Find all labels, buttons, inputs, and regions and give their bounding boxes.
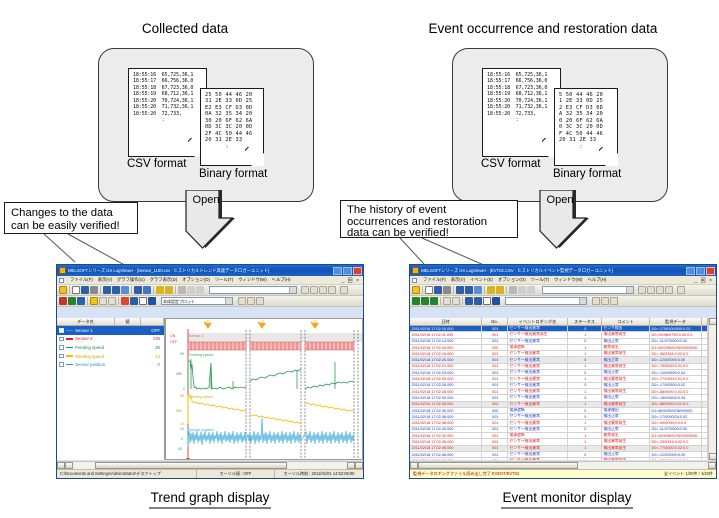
cell-status: 1 xyxy=(568,458,602,460)
cell-comment: 検出異常発生 xyxy=(602,402,650,407)
cell-event: センサー検出異常 xyxy=(508,414,568,419)
cell-data: D0=-12/0/0000:0.00 xyxy=(650,452,702,457)
calendar-icon[interactable] xyxy=(483,297,491,305)
cell-no: 001 xyxy=(482,452,508,457)
menu-item-window[interactable]: ウィンドウ(W) xyxy=(238,277,266,283)
series-name: Sensor position xyxy=(75,362,134,367)
scroll-left-button[interactable] xyxy=(57,462,65,469)
cell-data: D0=-76/0000:0.01:0.0 xyxy=(650,364,702,369)
maximize-button[interactable] xyxy=(696,267,705,275)
nav-next-icon[interactable] xyxy=(319,286,327,294)
cell-status: 1 xyxy=(568,439,602,444)
cut-icon[interactable] xyxy=(509,286,517,294)
person-icon[interactable] xyxy=(474,286,482,294)
cell-event: 電源遮断 xyxy=(508,408,568,413)
event-table-header[interactable]: 日時 No. イベントロギング名 ステータス コメント 監視データ xyxy=(410,318,708,326)
palette-icon[interactable] xyxy=(148,297,156,305)
event-menubar[interactable]: ファイル(F) 表示(V) イベント(E) オプション(O) ツール(T) ウィ… xyxy=(410,276,716,285)
print-icon[interactable] xyxy=(443,286,451,294)
svg-text:99: 99 xyxy=(180,352,184,356)
menu-item-window[interactable]: ウィンドウ(W) xyxy=(554,277,582,283)
cell-date: 2011/02/18 17:02:40.000 xyxy=(410,427,482,432)
svg-text:0: 0 xyxy=(181,437,183,441)
cell-status: 0 xyxy=(568,408,602,413)
event-table-body[interactable]: 2011/02/18 17:02:10.000001センサー検出異常0センサ検出… xyxy=(410,326,708,460)
scroll-thumb[interactable] xyxy=(418,462,578,469)
cell-no: 001 xyxy=(482,420,508,425)
cell-no: 001 xyxy=(482,389,508,394)
plot-green2-icon[interactable] xyxy=(421,297,429,305)
menu-item-graph-ops[interactable]: グラフ操作(G) xyxy=(117,277,145,283)
toolbar-separator xyxy=(462,297,463,305)
event-monitor-caption: Event monitor display xyxy=(482,490,652,505)
open-folder-icon[interactable] xyxy=(59,286,67,294)
cut-icon[interactable] xyxy=(178,286,186,294)
cell-data: D0=-17/0/0500:0.02 xyxy=(650,383,702,388)
right-open-arrow: Open xyxy=(536,190,596,252)
cell-status: 1 xyxy=(568,433,602,438)
left-binary-text: 25 50 44 46 20 31 2E 33 0D 25 E2 E3 CF D… xyxy=(205,92,260,150)
cell-data: D1=60/0/55/0/08/0/0000 xyxy=(650,408,702,413)
marker-icon[interactable] xyxy=(99,297,107,305)
nav-prev-icon[interactable] xyxy=(310,286,318,294)
toolbar-separator xyxy=(131,286,132,294)
series-color-swatch xyxy=(66,364,73,366)
person-icon[interactable] xyxy=(121,286,129,294)
event-statusbar: 監視データロギングファイル読み出し完了 EVENT/EVT02 全イベント 1/… xyxy=(410,469,716,478)
visibility-checkbox[interactable] xyxy=(59,354,64,359)
cell-no: 001 xyxy=(482,357,508,362)
nav-last-icon[interactable] xyxy=(665,286,673,294)
trend-statusbar: C:\Documents and Settings\Administrator\… xyxy=(57,469,363,478)
svg-text:▲02: ▲02 xyxy=(257,320,264,324)
col-header-monitor-data[interactable]: 監視データ xyxy=(650,318,702,325)
left-callout: Changes to the data can be easily verifi… xyxy=(4,202,138,234)
list-item[interactable]: Sensor 2 ON xyxy=(57,335,164,344)
save-icon[interactable] xyxy=(434,286,442,294)
cell-date: 2011/02/18 17:02:35.000 xyxy=(410,408,482,413)
nav-first-icon[interactable] xyxy=(301,286,309,294)
cell-data: D0=-18/0/0600:0.04 xyxy=(650,395,702,400)
right-csv-sheet: 18:55:16 65,725,36,1 18:55:17 66,756,36,… xyxy=(482,68,561,157)
status-message: 監視データロギングファイル読み出し完了 EVENT/EVT02 xyxy=(410,470,661,478)
cell-comment: 検出正常 xyxy=(602,452,650,457)
cursor-icon[interactable] xyxy=(90,297,98,305)
cell-date: 2011/02/18 17:02:26.000 xyxy=(410,383,482,388)
cell-event: センサー検出異常 xyxy=(508,452,568,457)
cell-comment: 検出異常発生 xyxy=(602,376,650,381)
cell-date: 2011/02/18 17:02:16.000 xyxy=(410,345,482,350)
cell-comment: 検出異常発生 xyxy=(602,458,650,460)
menu-item-help[interactable]: ヘルプ(H) xyxy=(272,277,291,283)
cell-data: D0=-88/0000:0.01:0.0 xyxy=(650,402,702,407)
menu-item-tools[interactable]: ツール(T) xyxy=(531,277,549,283)
svg-text:Sensor position: Sensor position xyxy=(189,428,214,432)
menu-item-view[interactable]: 表示(V) xyxy=(98,277,112,283)
nav-last-icon[interactable] xyxy=(328,286,336,294)
menu-item-options[interactable]: オプション(O) xyxy=(498,277,526,283)
mdi-window-controls[interactable]: _ 回 × xyxy=(342,277,360,284)
scroll-right-button[interactable] xyxy=(708,462,716,469)
cell-no: 001 xyxy=(482,427,508,432)
text-tool-icon[interactable] xyxy=(592,297,600,305)
col-header-status[interactable]: ステータス xyxy=(568,318,602,325)
svg-text:ON: ON xyxy=(170,334,176,338)
menu-item-event[interactable]: イベント(E) xyxy=(470,277,493,283)
event-toolbar-row1[interactable] xyxy=(410,285,716,296)
trend-toolbar-row2[interactable]: 本体設定プロット xyxy=(57,296,363,307)
visibility-checkbox[interactable] xyxy=(59,328,64,333)
scroll-down-button[interactable] xyxy=(709,453,717,460)
series-name: Sensor 1 xyxy=(75,328,134,333)
scroll-left-page-button[interactable] xyxy=(65,462,73,469)
series-name: Winding speed xyxy=(75,354,134,359)
menu-item-tools[interactable]: ツール(T) xyxy=(215,277,233,283)
plot-blue-icon[interactable] xyxy=(77,297,85,305)
cell-date: 2011/02/18 17:02:14.000 xyxy=(410,339,482,344)
cell-date: 2011/02/18 17:02:48.000 xyxy=(410,452,482,457)
cell-no: 001 xyxy=(482,339,508,344)
export-icon[interactable] xyxy=(610,297,618,305)
list-item[interactable]: Winding speed 13 xyxy=(57,352,164,361)
right-binary-sheet: 5 50 44 46 20 1 2E 33 0D 25 2 E3 CF D3 0… xyxy=(554,88,618,166)
right-open-label: Open xyxy=(530,194,590,206)
svg-text:Winding speed: Winding speed xyxy=(189,395,213,399)
cell-no: 001 xyxy=(482,376,508,381)
nav-next-icon[interactable] xyxy=(656,286,664,294)
cell-event: センサー検出異常 xyxy=(508,395,568,400)
cell-event: センサー検出異常 xyxy=(508,383,568,388)
cell-date: 2011/02/18 17:02:33.000 xyxy=(410,402,482,407)
left-csv-caption: CSV format xyxy=(127,158,186,170)
cell-no: 001 xyxy=(482,395,508,400)
col-header-extra[interactable] xyxy=(141,318,164,325)
toolbar-separator xyxy=(484,286,485,294)
cell-status: 0 xyxy=(568,452,602,457)
toolbar-separator xyxy=(175,286,176,294)
refresh-icon[interactable] xyxy=(340,286,348,294)
event-hscrollbar[interactable] xyxy=(410,461,716,469)
event-vscrollbar[interactable] xyxy=(708,318,716,460)
cell-date: 2011/02/18 17:02:36.000 xyxy=(410,414,482,419)
status-cursor-time: カーソル時刻 : 2011/01/01 14:52:06:00 xyxy=(275,470,363,478)
cell-comment: 検出正常 xyxy=(602,414,650,419)
plot-red-icon[interactable] xyxy=(59,297,67,305)
list-view-icon[interactable] xyxy=(465,286,473,294)
list-item[interactable]: Feeding speed 36 xyxy=(57,343,164,352)
svg-text:▲01: ▲01 xyxy=(203,320,210,324)
scroll-track[interactable] xyxy=(418,462,708,469)
toolbar-separator xyxy=(440,297,441,305)
chart-icon[interactable] xyxy=(134,286,142,294)
cell-data: D0=-77/0000:0.01:0.0 xyxy=(650,376,702,381)
cell-data: D0=-88/0000:0.01:0.0 xyxy=(650,458,702,460)
toolbar-separator xyxy=(118,297,119,305)
cell-no: 001 xyxy=(482,446,508,451)
status-count: 全イベント 1/20件 / 1/20件 xyxy=(661,470,716,478)
cell-comment: 検出異常発生 xyxy=(602,446,650,451)
cell-no: 001 xyxy=(482,414,508,419)
right-csv-text: 18:55:16 65,725,36,1 18:55:17 66,756,36,… xyxy=(487,72,557,124)
cell-data: D0=-17/0000/24:0.02 xyxy=(650,414,702,419)
trend-data-list-panel[interactable]: データ名 値 Sensor 1 OFF Sensor 2 ON xyxy=(57,318,165,460)
svg-text:10: 10 xyxy=(180,422,184,426)
minimize-button[interactable] xyxy=(333,267,342,275)
layers-icon[interactable] xyxy=(130,297,138,305)
trend-toolbar-row1[interactable] xyxy=(57,285,363,296)
toolbar-combo-1[interactable] xyxy=(209,286,297,294)
grid-view-icon[interactable] xyxy=(103,286,111,294)
scale-icon[interactable] xyxy=(108,297,116,305)
cell-comment: 検出正常 xyxy=(602,395,650,400)
visibility-checkbox[interactable] xyxy=(59,345,64,350)
cell-no: 001 xyxy=(482,351,508,356)
cell-status: 0 xyxy=(568,357,602,362)
trend-window-title: MELSOFTシリーズ GX LogViewer - [Sensor_1190.… xyxy=(68,268,333,273)
palette-icon[interactable] xyxy=(492,297,500,305)
scroll-right-page-button[interactable] xyxy=(355,462,363,469)
trend-graph-plot[interactable]: ▲01 ▲02 ▲03 xyxy=(165,318,363,460)
split-view-icon[interactable] xyxy=(247,297,255,305)
cell-date: 2011/02/18 17:02:38.000 xyxy=(410,420,482,425)
svg-text:99: 99 xyxy=(180,394,184,398)
cell-no: 001 xyxy=(482,383,508,388)
zoom-in-icon[interactable] xyxy=(156,286,164,294)
paste-icon[interactable] xyxy=(527,286,535,294)
cell-event: センサー検出異常 xyxy=(508,420,568,425)
col-header-name[interactable]: データ名 xyxy=(57,318,115,325)
cell-comment: 検出正常 xyxy=(602,370,650,375)
cell-event: センサー検出異常 xyxy=(508,389,568,394)
flag-icon[interactable] xyxy=(121,297,129,305)
split-view-icon[interactable] xyxy=(601,297,609,305)
cell-event: センサー検出異常 xyxy=(508,351,568,356)
grid-view-icon[interactable] xyxy=(456,286,464,294)
cell-date: 2011/02/18 17:02:42.000 xyxy=(410,433,482,438)
cell-data: D0=-77/0000:0.02:0.0 xyxy=(650,446,702,451)
col-header-datetime[interactable]: 日時 xyxy=(410,318,482,325)
visibility-checkbox[interactable] xyxy=(59,337,64,342)
series-value: 13 xyxy=(134,354,164,359)
cell-data: D0=00/98/0750:0.00:0.0 xyxy=(650,332,702,337)
cell-date: 2011/02/18 17:02:30.000 xyxy=(410,395,482,400)
list-item[interactable]: Sensor 1 OFF xyxy=(57,326,164,335)
menu-item-help[interactable]: ヘルプ(H) xyxy=(587,277,606,283)
plot-green-icon[interactable] xyxy=(68,297,76,305)
print-icon[interactable] xyxy=(90,286,98,294)
document-icon xyxy=(59,278,64,283)
export-icon[interactable] xyxy=(256,297,264,305)
cell-no: 001 xyxy=(482,332,508,337)
right-binary-caption: Binary format xyxy=(553,168,621,180)
col-header-value[interactable]: 値 xyxy=(115,318,141,325)
toolbar-separator xyxy=(69,286,70,294)
cell-comment: 検出正常 xyxy=(602,427,650,432)
flag-icon[interactable] xyxy=(465,297,473,305)
new-file-icon[interactable] xyxy=(72,286,80,294)
cell-event: センサー検出異常 xyxy=(508,364,568,369)
col-header-no[interactable]: No. xyxy=(482,318,508,325)
window-controls[interactable] xyxy=(333,267,362,275)
cell-no: 001 xyxy=(482,326,508,331)
cell-event: センサー検出異常 xyxy=(508,357,568,362)
text-tool-icon[interactable] xyxy=(238,297,246,305)
cell-date: 2011/02/18 17:02:45.000 xyxy=(410,439,482,444)
svg-text:555: 555 xyxy=(176,409,182,413)
trend-hscrollbar[interactable] xyxy=(57,461,363,469)
cell-status: 0 xyxy=(568,414,602,419)
right-binary-text: 5 50 44 46 20 1 2E 33 0D 25 2 E3 CF D3 0… xyxy=(559,92,614,150)
cell-event: センサー検出異常 xyxy=(508,339,568,344)
menu-item-file[interactable]: ファイル(F) xyxy=(70,277,93,283)
sort-icon[interactable] xyxy=(452,297,460,305)
zoom-out-icon[interactable] xyxy=(165,286,173,294)
event-filter-combo[interactable] xyxy=(505,297,587,305)
mdi-window-controls[interactable]: _ 回 × xyxy=(695,277,713,284)
plot-mode-value: 本体設定プロット xyxy=(163,299,195,305)
series-color-swatch xyxy=(66,338,73,340)
refresh-icon[interactable] xyxy=(677,286,685,294)
cell-comment: 異常発生 xyxy=(602,433,650,438)
trend-list-header[interactable]: データ名 値 xyxy=(57,318,164,326)
series-name: Feeding speed xyxy=(75,345,134,350)
cell-event: 電源遮断 xyxy=(508,345,568,350)
cell-comment: 電源復旧 xyxy=(602,408,650,413)
chevron-down-icon[interactable] xyxy=(579,298,586,304)
plot-green3-icon[interactable] xyxy=(430,297,438,305)
menu-item-graph-display[interactable]: グラフ表示(D) xyxy=(150,277,177,283)
paste-icon[interactable] xyxy=(196,286,204,294)
cell-event: センサー検出異常 xyxy=(508,446,568,451)
filter-icon[interactable] xyxy=(443,297,451,305)
plot-mode-combo[interactable]: 本体設定プロット xyxy=(161,297,233,305)
cell-comment: 検出異常発生 xyxy=(602,389,650,394)
minimize-button[interactable] xyxy=(686,267,695,275)
menu-item-options[interactable]: オプション(O) xyxy=(182,277,210,283)
col-header-event-name[interactable]: イベントロギング名 xyxy=(508,318,568,325)
chevron-down-icon[interactable] xyxy=(626,287,633,293)
copy-icon[interactable] xyxy=(518,286,526,294)
menu-item-file[interactable]: ファイル(F) xyxy=(423,277,446,283)
plot-green-icon[interactable] xyxy=(412,297,420,305)
cell-status: 1 xyxy=(568,345,602,350)
nav-first-icon[interactable] xyxy=(638,286,646,294)
svg-text:14: 14 xyxy=(180,427,184,431)
trend-data-list[interactable]: Sensor 1 OFF Sensor 2 ON Feeding speed 3… xyxy=(57,326,164,369)
col-header-comment[interactable]: コメント xyxy=(602,318,650,325)
trend-caption-underline xyxy=(149,507,271,509)
toolbar-separator xyxy=(506,286,507,294)
cell-date: 2011/02/18 17:02:25.000 xyxy=(410,376,482,381)
document-icon xyxy=(412,278,417,283)
cell-data: D0=-11/37/0500:0.00 xyxy=(650,339,702,344)
cell-no: 001 xyxy=(482,433,508,438)
left-open-label: Open xyxy=(176,194,236,206)
cell-comment: 検出正常 xyxy=(602,383,650,388)
event-monitor-window[interactable]: MELSOFTシリーズ GX LogViewer - [EVT02.CSV - … xyxy=(409,264,717,479)
scroll-up-button[interactable] xyxy=(709,318,717,325)
layers-icon[interactable] xyxy=(474,297,482,305)
scroll-right-button[interactable] xyxy=(347,462,355,469)
svg-text:Feeding speed: Feeding speed xyxy=(189,353,213,357)
right-csv-caption: CSV format xyxy=(481,158,540,170)
chevron-down-icon[interactable] xyxy=(289,287,296,293)
svg-text:Sensor 1: Sensor 1 xyxy=(189,334,203,338)
zoom-out-icon[interactable] xyxy=(496,286,504,294)
cell-data: D0=-90/0000:0.0:0.0 xyxy=(650,420,702,425)
scroll-track[interactable] xyxy=(73,462,347,469)
page-fold-line xyxy=(245,147,264,166)
cell-status: 0 xyxy=(568,370,602,375)
event-toolbar-row2[interactable] xyxy=(410,296,716,307)
svg-text:0: 0 xyxy=(183,387,185,391)
table-icon[interactable] xyxy=(143,286,151,294)
trend-graph-window[interactable]: MELSOFTシリーズ GX LogViewer - [Sensor_1190.… xyxy=(56,264,364,479)
cell-comment: 検出正常 xyxy=(602,339,650,344)
maximize-button[interactable] xyxy=(343,267,352,275)
calendar-icon[interactable] xyxy=(139,297,147,305)
menu-item-view[interactable]: 表示(V) xyxy=(451,277,465,283)
cell-data: D0=-46/0344:0.02:0.0 xyxy=(650,351,702,356)
window-controls[interactable] xyxy=(686,267,715,275)
nav-prev-icon[interactable] xyxy=(647,286,655,294)
chevron-down-icon[interactable] xyxy=(225,298,232,304)
cell-no: 001 xyxy=(482,458,508,460)
open-folder-icon[interactable] xyxy=(412,286,420,294)
list-item[interactable]: Sensor position -2 xyxy=(57,360,164,369)
close-button[interactable] xyxy=(353,267,362,275)
scroll-thumb[interactable] xyxy=(95,462,287,469)
left-csv-sheet: 18:55:16 65,725,36,1 18:55:17 66,756,36,… xyxy=(128,68,207,157)
cell-no: 001 xyxy=(482,402,508,407)
toolbar-separator xyxy=(453,286,454,294)
svg-text:455: 455 xyxy=(176,372,182,376)
series-color-swatch xyxy=(66,330,73,332)
save-icon[interactable] xyxy=(81,286,89,294)
close-button[interactable] xyxy=(706,267,715,275)
new-file-icon[interactable] xyxy=(425,286,433,294)
cell-date: 2011/02/18 17:02:18.000 xyxy=(410,351,482,356)
zoom-in-icon[interactable] xyxy=(487,286,495,294)
cell-data: D0=-88/0000:0.01:0.0 xyxy=(650,389,702,394)
left-binary-caption: Binary format xyxy=(199,168,267,180)
toolbar-combo-1[interactable] xyxy=(542,286,634,294)
cell-event: センサー検出異常 xyxy=(508,439,568,444)
cell-comment: センサ検出 xyxy=(602,326,650,331)
toolbar-separator xyxy=(87,297,88,305)
copy-icon[interactable] xyxy=(187,286,195,294)
visibility-checkbox[interactable] xyxy=(59,362,64,367)
cell-status: 0 xyxy=(568,383,602,388)
event-window-title: MELSOFTシリーズ GX LogViewer - [EVT02.CSV - … xyxy=(421,268,686,273)
table-row[interactable]: 2011/02/18 17:02:50.000001センサー検出異常1検出異常発… xyxy=(410,458,708,460)
cell-comment: 異常発生 xyxy=(602,345,650,350)
trend-menubar[interactable]: ファイル(F) 表示(V) グラフ操作(G) グラフ表示(D) オプション(O)… xyxy=(57,276,363,285)
cell-data: D0=-12/0/0000:0.00 xyxy=(650,357,702,362)
toolbar-separator xyxy=(100,286,101,294)
cell-event: センサー検出異常 xyxy=(508,427,568,432)
event-titlebar[interactable]: MELSOFTシリーズ GX LogViewer - [EVT02.CSV - … xyxy=(410,265,716,276)
list-view-icon[interactable] xyxy=(112,286,120,294)
trend-titlebar[interactable]: MELSOFTシリーズ GX LogViewer - [Sensor_1190.… xyxy=(57,265,363,276)
cell-data: D1=60/2/55/0/25/0/20/0000 xyxy=(650,345,702,350)
cell-event: センサー検出異常発生 xyxy=(508,332,568,337)
cell-comment: 検出異常発生 xyxy=(602,351,650,356)
cell-no: 002 xyxy=(482,345,508,350)
scroll-left-button[interactable] xyxy=(410,462,418,469)
trend-chart-svg: ▲01 ▲02 ▲03 xyxy=(166,319,363,460)
cell-no: 002 xyxy=(482,408,508,413)
